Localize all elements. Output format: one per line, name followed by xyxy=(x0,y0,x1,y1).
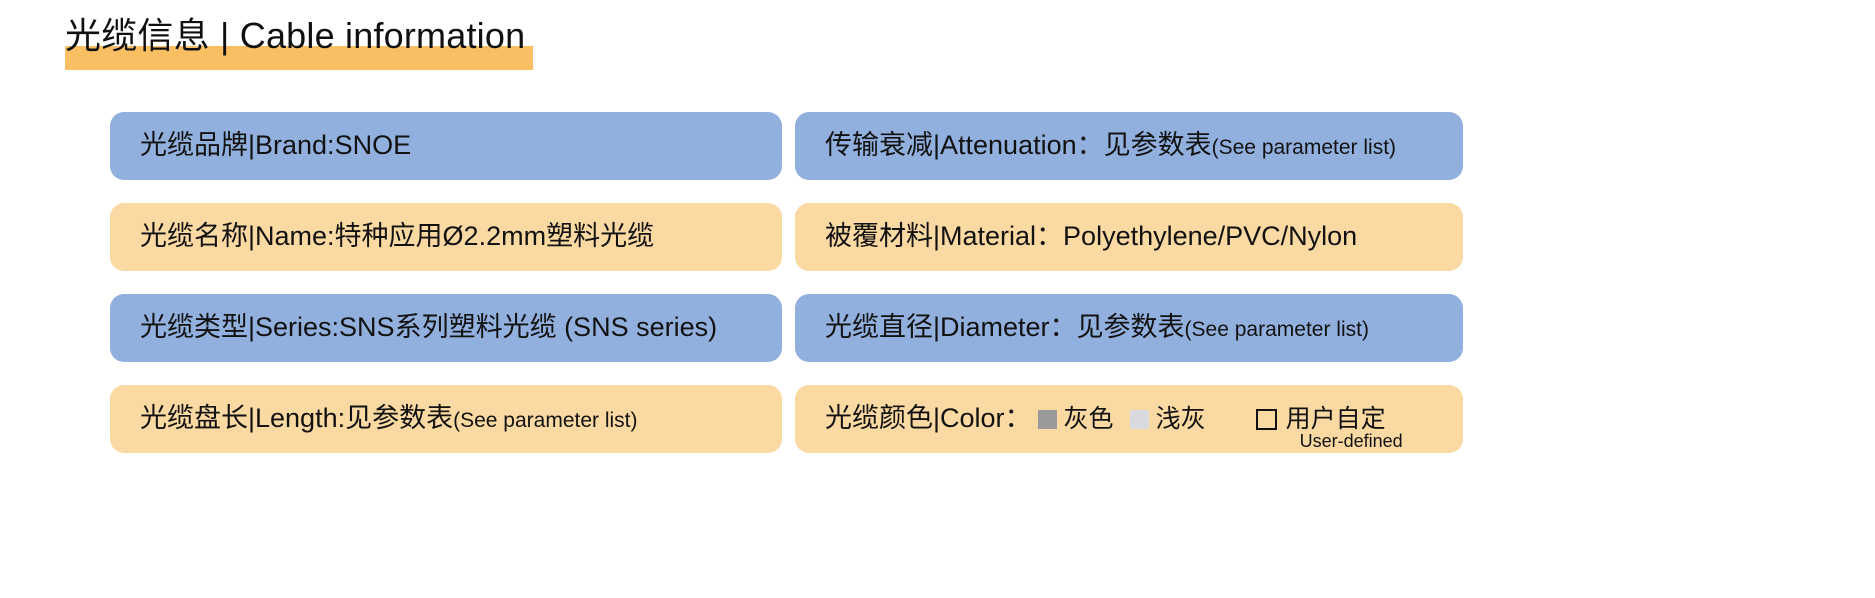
info-row-length-value: 见参数表 xyxy=(345,403,453,434)
info-row-brand-value: SNOE xyxy=(335,130,412,161)
info-row-material-label: 被覆材料|Material： xyxy=(825,221,1063,252)
page-header: 光缆信息 | Cable information xyxy=(65,8,525,70)
info-row-diameter-value: 见参数表 xyxy=(1077,312,1185,343)
info-row-brand-text: 光缆品牌|Brand:SNOE xyxy=(140,130,411,161)
info-row-name-label: 光缆名称|Name: xyxy=(140,221,335,252)
info-row-diameter: 光缆直径|Diameter：见参数表(See parameter list) xyxy=(795,294,1463,362)
color-option-user-defined-label-cn: 用户自定 xyxy=(1286,405,1386,434)
info-row-brand: 光缆品牌|Brand:SNOE xyxy=(110,112,782,180)
info-row-series-value: SNS系列塑料光缆 (SNS series) xyxy=(339,312,717,343)
page-title: 光缆信息 | Cable information xyxy=(65,8,525,64)
color-option-gray-label: 灰色 xyxy=(1064,405,1114,434)
info-row-name-text: 光缆名称|Name:特种应用Ø2.2mm塑料光缆 xyxy=(140,221,654,252)
info-row-name: 光缆名称|Name:特种应用Ø2.2mm塑料光缆 xyxy=(110,203,782,271)
info-row-material-value: Polyethylene/PVC/Nylon xyxy=(1063,221,1357,252)
left-column: 光缆品牌|Brand:SNOE 光缆名称|Name:特种应用Ø2.2mm塑料光缆… xyxy=(110,112,782,476)
info-row-length-value-en: (See parameter list) xyxy=(453,409,637,433)
right-column: 传输衰减|Attenuation：见参数表(See parameter list… xyxy=(795,112,1463,476)
info-row-diameter-text: 光缆直径|Diameter：见参数表(See parameter list) xyxy=(825,312,1369,343)
color-option-light-gray-label: 浅灰 xyxy=(1156,405,1206,434)
info-row-series-label: 光缆类型|Series: xyxy=(140,312,339,343)
info-row-material: 被覆材料|Material：Polyethylene/PVC/Nylon xyxy=(795,203,1463,271)
info-row-diameter-value-en: (See parameter list) xyxy=(1185,318,1369,342)
color-option-user-defined-label-en: User-defined xyxy=(1300,431,1403,452)
color-swatch-user-defined-icon xyxy=(1256,409,1277,430)
info-row-series: 光缆类型|Series:SNS系列塑料光缆 (SNS series) xyxy=(110,294,782,362)
info-row-attenuation: 传输衰减|Attenuation：见参数表(See parameter list… xyxy=(795,112,1463,180)
info-row-name-value: 特种应用Ø2.2mm塑料光缆 xyxy=(335,221,655,252)
info-row-attenuation-value-en: (See parameter list) xyxy=(1212,136,1396,160)
info-row-material-text: 被覆材料|Material：Polyethylene/PVC/Nylon xyxy=(825,221,1357,252)
info-row-attenuation-value: 见参数表 xyxy=(1104,130,1212,161)
info-row-length-label: 光缆盘长|Length: xyxy=(140,403,345,434)
info-row-color: 光缆颜色|Color： 灰色 浅灰 用户自定 User-defined xyxy=(795,385,1463,453)
info-row-diameter-label: 光缆直径|Diameter： xyxy=(825,312,1077,343)
color-swatch-light-gray-icon xyxy=(1130,410,1149,429)
info-row-attenuation-text: 传输衰减|Attenuation：见参数表(See parameter list… xyxy=(825,130,1396,161)
color-option-user-defined: 用户自定 User-defined xyxy=(1286,405,1386,434)
info-row-length: 光缆盘长|Length:见参数表(See parameter list) xyxy=(110,385,782,453)
info-row-length-text: 光缆盘长|Length:见参数表(See parameter list) xyxy=(140,403,638,434)
info-row-series-text: 光缆类型|Series:SNS系列塑料光缆 (SNS series) xyxy=(140,312,717,343)
info-row-color-text: 光缆颜色|Color： 灰色 浅灰 用户自定 User-defined xyxy=(825,403,1386,434)
info-row-brand-label: 光缆品牌|Brand: xyxy=(140,130,335,161)
info-row-attenuation-label: 传输衰减|Attenuation： xyxy=(825,130,1104,161)
info-row-color-label: 光缆颜色|Color： xyxy=(825,403,1032,434)
color-swatch-gray-icon xyxy=(1038,410,1057,429)
